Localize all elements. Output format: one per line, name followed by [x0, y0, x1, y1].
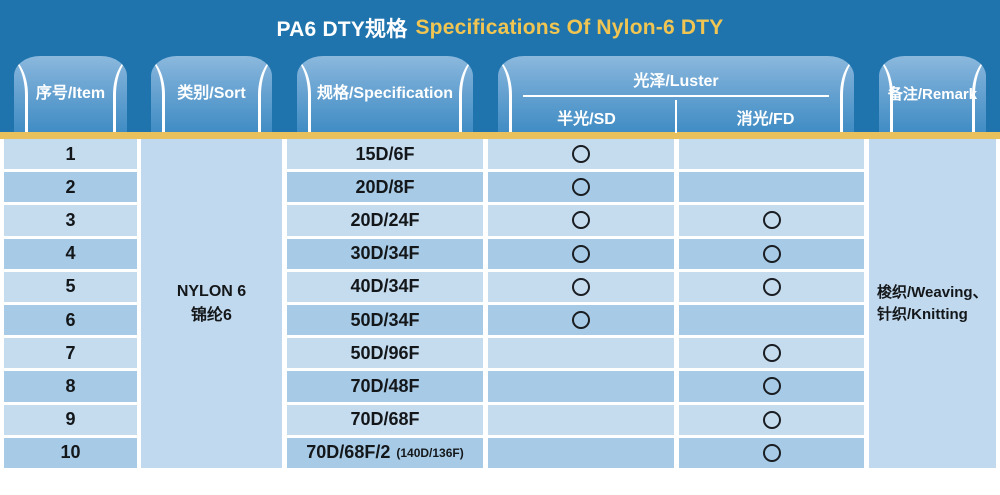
column-header-specification: 规格/Specification	[297, 56, 473, 133]
luster-group-divider	[523, 95, 829, 97]
table-cell-specification: 50D/34F	[287, 305, 483, 335]
table-cell-item: 10	[4, 438, 137, 468]
table-cell-luster-sd	[488, 272, 674, 302]
table-cell-specification: 70D/68F	[287, 405, 483, 435]
table-header-row: 序号/Item类别/Sort规格/Specification光泽/Luster半…	[0, 56, 1000, 133]
item-number: 6	[65, 310, 75, 331]
header-gold-rule	[0, 132, 1000, 139]
circle-outline-icon	[763, 411, 781, 429]
item-number: 7	[65, 343, 75, 364]
table-cell-luster-fd	[679, 239, 864, 269]
item-number: 8	[65, 376, 75, 397]
column-header-sort-label: 类别/Sort	[177, 85, 245, 103]
column-header-remark-label: 备注/Remark	[888, 86, 977, 103]
column-header-remark: 备注/Remark	[879, 56, 986, 133]
item-number: 5	[65, 276, 75, 297]
circle-outline-icon	[763, 211, 781, 229]
table-cell-luster-sd	[488, 139, 674, 169]
specification-value: 20D/8F	[355, 177, 414, 198]
table-cell-luster-sd	[488, 205, 674, 235]
item-number: 2	[65, 177, 75, 198]
spec-sheet: PA6 DTY规格 Specifications Of Nylon-6 DTY …	[0, 0, 1000, 495]
table-cell-luster-fd	[679, 371, 864, 401]
column-header-sort: 类别/Sort	[151, 56, 272, 133]
sort-value-line1: NYLON 6	[177, 280, 246, 304]
item-number: 3	[65, 210, 75, 231]
table-cell-luster-sd	[488, 305, 674, 335]
table-cell-specification: 50D/96F	[287, 338, 483, 368]
table-cell-item: 8	[4, 371, 137, 401]
circle-outline-icon	[763, 278, 781, 296]
table-cell-luster-sd	[488, 438, 674, 468]
table-cell-luster-fd	[679, 338, 864, 368]
specification-value: 30D/34F	[350, 243, 419, 264]
remark-value-line2: 针织/Knitting	[877, 304, 996, 326]
table-cell-specification: 70D/68F/2(140D/136F)	[287, 438, 483, 468]
specification-value: 70D/48F	[350, 376, 419, 397]
table-cell-luster-sd	[488, 239, 674, 269]
circle-outline-icon	[572, 178, 590, 196]
table-cell-luster-sd	[488, 338, 674, 368]
specification-value: 70D/68F	[350, 409, 419, 430]
table-cell-item: 2	[4, 172, 137, 202]
column-header-luster: 光泽/Luster半光/SD消光/FD	[498, 56, 854, 133]
table-cell-luster-sd	[488, 371, 674, 401]
circle-outline-icon	[572, 211, 590, 229]
table-body: 115D/6F220D/8F320D/24F430D/34F540D/34F65…	[0, 139, 1000, 478]
specification-value: 70D/68F/2	[306, 442, 390, 463]
circle-outline-icon	[572, 245, 590, 263]
table-cell-item: 3	[4, 205, 137, 235]
table-cell-item: 4	[4, 239, 137, 269]
specification-value: 50D/34F	[350, 310, 419, 331]
specification-suffix: (140D/136F)	[396, 446, 463, 460]
table-cell-item: 7	[4, 338, 137, 368]
specification-value: 20D/24F	[350, 210, 419, 231]
remark-value: 梭织/Weaving、针织/Knitting	[869, 282, 996, 326]
table-cell-specification: 40D/34F	[287, 272, 483, 302]
sort-value-line2: 锦纶6	[177, 304, 246, 328]
table-cell-luster-sd	[488, 172, 674, 202]
circle-outline-icon	[572, 145, 590, 163]
table-cell-remark-merged: 梭织/Weaving、针织/Knitting	[869, 139, 996, 468]
specification-value: 40D/34F	[350, 276, 419, 297]
page-title: PA6 DTY规格 Specifications Of Nylon-6 DTY	[0, 0, 1000, 56]
circle-outline-icon	[763, 245, 781, 263]
table-cell-luster-fd	[679, 205, 864, 235]
table-cell-luster-fd	[679, 139, 864, 169]
item-number: 10	[60, 442, 80, 463]
table-cell-luster-fd	[679, 272, 864, 302]
item-number: 4	[65, 243, 75, 264]
circle-outline-icon	[572, 278, 590, 296]
table-cell-luster-fd	[679, 172, 864, 202]
table-cell-item: 6	[4, 305, 137, 335]
page-title-cn: PA6 DTY规格	[277, 13, 408, 43]
column-header-specification-label: 规格/Specification	[317, 85, 453, 103]
circle-outline-icon	[763, 344, 781, 362]
table-cell-luster-fd	[679, 305, 864, 335]
circle-outline-icon	[763, 377, 781, 395]
item-number: 9	[65, 409, 75, 430]
remark-value-line1: 梭织/Weaving、	[877, 282, 996, 304]
column-header-item-label: 序号/Item	[36, 85, 105, 103]
column-header-luster-label: 光泽/Luster	[633, 67, 718, 91]
luster-subcolumns: 半光/SD消光/FD	[498, 100, 854, 133]
table-cell-luster-fd	[679, 405, 864, 435]
table-cell-item: 9	[4, 405, 137, 435]
column-header-luster-fd: 消光/FD	[675, 100, 854, 133]
table-cell-specification: 30D/34F	[287, 239, 483, 269]
table-cell-specification: 70D/48F	[287, 371, 483, 401]
specification-value: 50D/96F	[350, 343, 419, 364]
table-cell-luster-fd	[679, 438, 864, 468]
sort-value: NYLON 6锦纶6	[177, 280, 246, 328]
circle-outline-icon	[763, 444, 781, 462]
column-header-luster-sd: 半光/SD	[498, 100, 675, 133]
table-cell-item: 5	[4, 272, 137, 302]
table-cell-specification: 20D/8F	[287, 172, 483, 202]
specification-value: 15D/6F	[355, 144, 414, 165]
circle-outline-icon	[572, 311, 590, 329]
table-cell-item: 1	[4, 139, 137, 169]
table-cell-sort-merged: NYLON 6锦纶6	[141, 139, 282, 468]
table-cell-luster-sd	[488, 405, 674, 435]
column-header-item: 序号/Item	[14, 56, 127, 133]
page-title-en: Specifications Of Nylon-6 DTY	[415, 16, 723, 40]
item-number: 1	[65, 144, 75, 165]
table-cell-specification: 15D/6F	[287, 139, 483, 169]
table-cell-specification: 20D/24F	[287, 205, 483, 235]
